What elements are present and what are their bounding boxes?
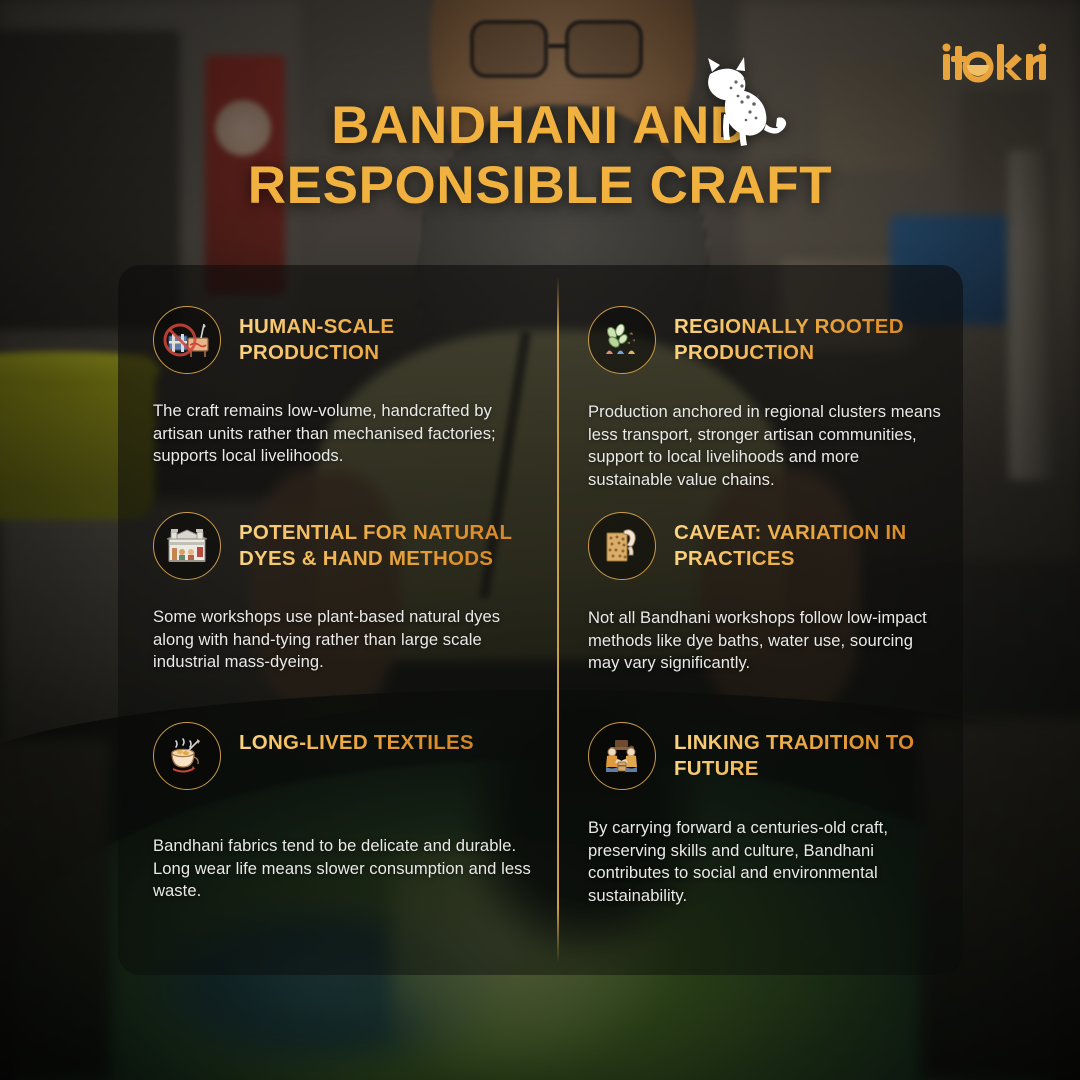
steaming-dye-pot-icon [153,722,221,790]
feature-body: Some workshops use plant-based natural d… [153,606,531,674]
feature-title: HUMAN-SCALE PRODUCTION [239,305,531,365]
poster-title: BANDHANI AND RESPONSIBLE CRAFT [0,96,1080,216]
poster-title-line-1: BANDHANI AND [0,96,1080,156]
feature-item-long-lived-textiles: LONG-LIVED TEXTILES Bandhani fabrics ten… [118,684,557,975]
feature-body: By carrying forward a centuries-old craf… [588,817,941,908]
feature-item-natural-dyes-hand-methods: POTENTIAL FOR NATURAL DYES & HAND METHOD… [118,475,557,684]
two-artisans-seated-icon [588,722,656,790]
feature-header: REGIONALLY ROOTED PRODUCTION [588,305,941,373]
feature-item-linking-tradition-to-future: LINKING TRADITION TO FUTURE By carrying … [557,684,963,975]
feature-title: LINKING TRADITION TO FUTURE [674,721,941,781]
itokri-basket-logo-icon [942,40,1046,84]
feature-title: CAVEAT: VARIATION IN PRACTICES [674,511,941,571]
feature-body: The craft remains low-volume, handcrafte… [153,400,531,468]
feature-header: CAVEAT: VARIATION IN PRACTICES [588,511,941,579]
feature-header: LINKING TRADITION TO FUTURE [588,721,941,789]
feature-grid: HUMAN-SCALE PRODUCTION The craft remains… [118,265,963,975]
poster-title-line-2: RESPONSIBLE CRAFT [0,156,1080,216]
feature-title: POTENTIAL FOR NATURAL DYES & HAND METHOD… [239,511,531,571]
content-panel: HUMAN-SCALE PRODUCTION The craft remains… [118,265,963,975]
feature-item-caveat-variation-in-practices: CAVEAT: VARIATION IN PRACTICES Not all B… [557,475,963,684]
feature-header: POTENTIAL FOR NATURAL DYES & HAND METHOD… [153,511,531,579]
leaves-and-dye-powders-icon [588,306,656,374]
infographic-poster: BANDHANI AND RESPONSIBLE CRAFT [0,0,1080,1080]
feature-body: Not all Bandhani workshops follow low-im… [588,607,941,675]
feature-header: LONG-LIVED TEXTILES [153,721,531,789]
feature-item-regionally-rooted-production: REGIONALLY ROOTED PRODUCTION Production … [557,265,963,475]
feature-header: HUMAN-SCALE PRODUCTION [153,305,531,373]
feature-body: Bandhani fabrics tend to be delicate and… [153,835,531,903]
no-factory-machine-icon [153,306,221,374]
hand-holding-patterned-fabric-icon [588,512,656,580]
feature-item-human-scale-production: HUMAN-SCALE PRODUCTION The craft remains… [118,265,557,475]
itokri-logo[interactable] [942,40,1046,84]
cat-illustration-icon [684,52,796,153]
artisan-workshop-building-icon [153,512,221,580]
feature-title: LONG-LIVED TEXTILES [239,721,474,756]
feature-title: REGIONALLY ROOTED PRODUCTION [674,305,941,365]
